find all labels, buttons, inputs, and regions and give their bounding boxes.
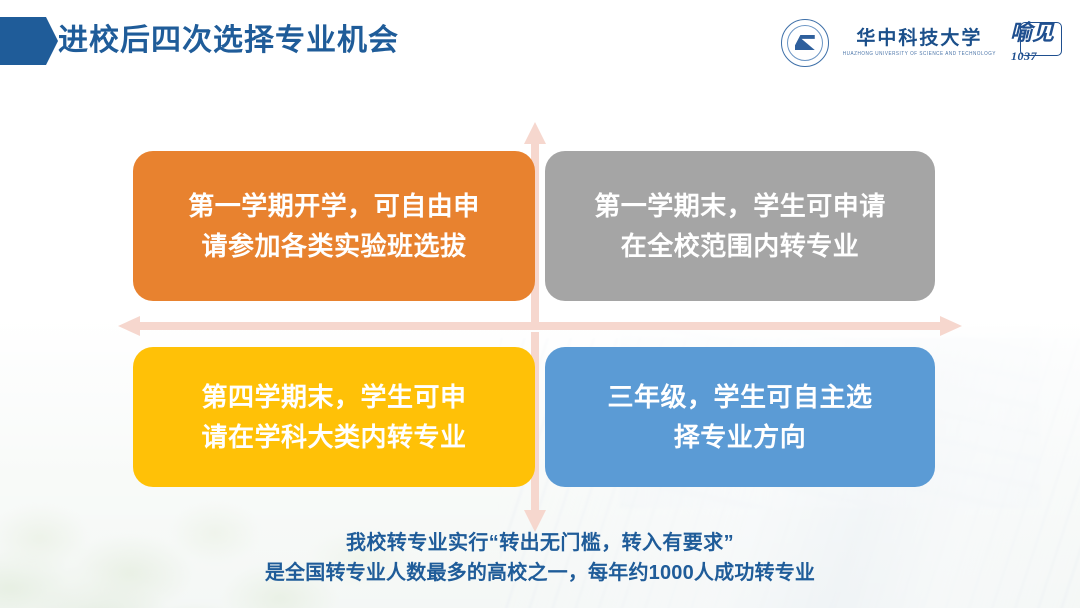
box-line-1: 第四学期末，学生可申 [201,377,466,417]
box-line-2: 择专业方向 [607,417,872,457]
footer-note: 我校转专业实行“转出无门槛，转入有要求” 是全国转专业人数最多的高校之一，每年约… [0,528,1080,588]
footer-note-line-2: 是全国转专业人数最多的高校之一，每年约1000人成功转专业 [0,558,1080,588]
box-first-semester-end: 第一学期末，学生可申请 在全校范围内转专业 [545,151,935,301]
hust-wordmark: 华中科技大学 HUAZHONG UNIVERSITY OF SCIENCE AN… [843,28,996,58]
box-text: 第一学期末，学生可申请 在全校范围内转专业 [594,186,886,266]
page-title: 进校后四次选择专业机会 [58,18,399,64]
slide-header: 进校后四次选择专业机会 华中科技大学 HUAZHONG UNIVERSITY O… [0,0,1080,86]
box-line-2: 请参加各类实验班选拔 [188,226,480,266]
university-name-cn: 华中科技大学 [843,28,996,50]
hust-seal-icon [781,19,829,67]
yujian-1037-stamp-icon: 喻见 1037 [1010,19,1062,67]
footer-note-line-1: 我校转专业实行“转出无门槛，转入有要求” [0,528,1080,558]
box-line-2: 请在学科大类内转专业 [201,417,466,457]
header-arrow-mark-icon [0,17,58,65]
university-name-en: HUAZHONG UNIVERSITY OF SCIENCE AND TECHN… [843,49,996,58]
box-line-1: 第一学期开学，可自由申 [188,186,480,226]
box-line-2: 在全校范围内转专业 [594,226,886,266]
box-line-1: 第一学期末，学生可申请 [594,186,886,226]
box-text: 三年级，学生可自主选 择专业方向 [607,377,872,457]
slide-canvas: 进校后四次选择专业机会 华中科技大学 HUAZHONG UNIVERSITY O… [0,0,1080,608]
box-text: 第四学期末，学生可申 请在学科大类内转专业 [201,377,466,457]
box-line-1: 三年级，学生可自主选 [607,377,872,417]
logo-group: 华中科技大学 HUAZHONG UNIVERSITY OF SCIENCE AN… [781,16,1062,70]
stamp-border [1020,22,1062,56]
box-text: 第一学期开学，可自由申 请参加各类实验班选拔 [188,186,480,266]
box-first-semester-start: 第一学期开学，可自由申 请参加各类实验班选拔 [133,151,535,301]
box-fourth-semester-end: 第四学期末，学生可申 请在学科大类内转专业 [133,347,535,487]
box-third-year: 三年级，学生可自主选 择专业方向 [545,347,935,487]
